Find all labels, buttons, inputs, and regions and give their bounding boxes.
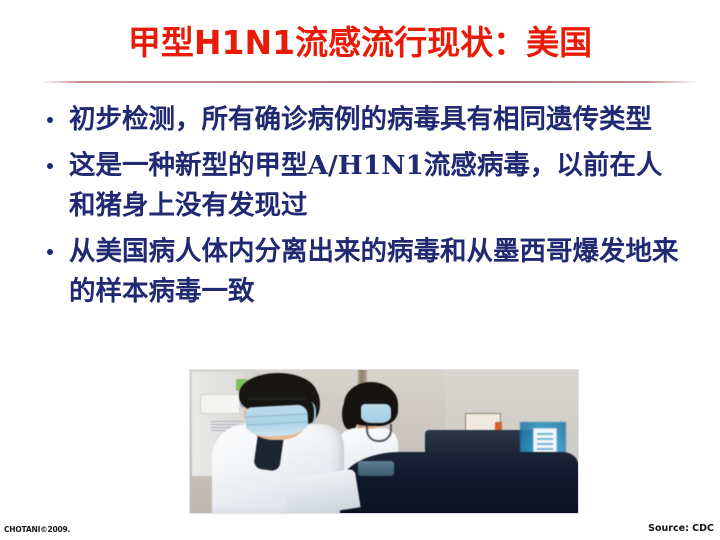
page-title: 甲型H1N1流感流行现状：美国 [0, 22, 720, 64]
photo-cabinet-label [200, 394, 240, 414]
lab-photo [190, 370, 578, 513]
list-item: 从美国病人体内分离出来的病毒和从墨西哥爆发地来的样本病毒一致 [38, 232, 686, 312]
slide-canvas: 甲型H1N1流感流行现状：美国 初步检测，所有确诊病例的病毒具有相同遗传类型 这… [0, 0, 720, 540]
photo-person-b-face-mask [361, 404, 391, 423]
photo-instrument-indicator [495, 422, 502, 430]
photo-person-a-mask-earloop [302, 402, 316, 424]
photo-instrument-screen [358, 461, 394, 476]
list-item: 这是一种新型的甲型A/H1N1流感病毒，以前在人和猪身上没有发现过 [38, 146, 686, 226]
bullet-text: 这是一种新型的甲型A/H1N1流感病毒，以前在人和猪身上没有发现过 [69, 146, 686, 226]
bullet-text: 初步检测，所有确诊病例的病毒具有相同遗传类型 [69, 100, 686, 140]
title-divider [40, 81, 700, 83]
lab-photo-image [190, 370, 578, 513]
bullet-text: 从美国病人体内分离出来的病毒和从墨西哥爆发地来的样本病毒一致 [69, 232, 686, 312]
footer-source: Source: CDC [648, 523, 714, 534]
bullet-list: 初步检测，所有确诊病例的病毒具有相同遗传类型 这是一种新型的甲型A/H1N1流感… [38, 100, 686, 318]
footer-copyright: CHOTANI©2009. [4, 525, 70, 534]
list-item: 初步检测，所有确诊病例的病毒具有相同遗传类型 [38, 100, 686, 140]
